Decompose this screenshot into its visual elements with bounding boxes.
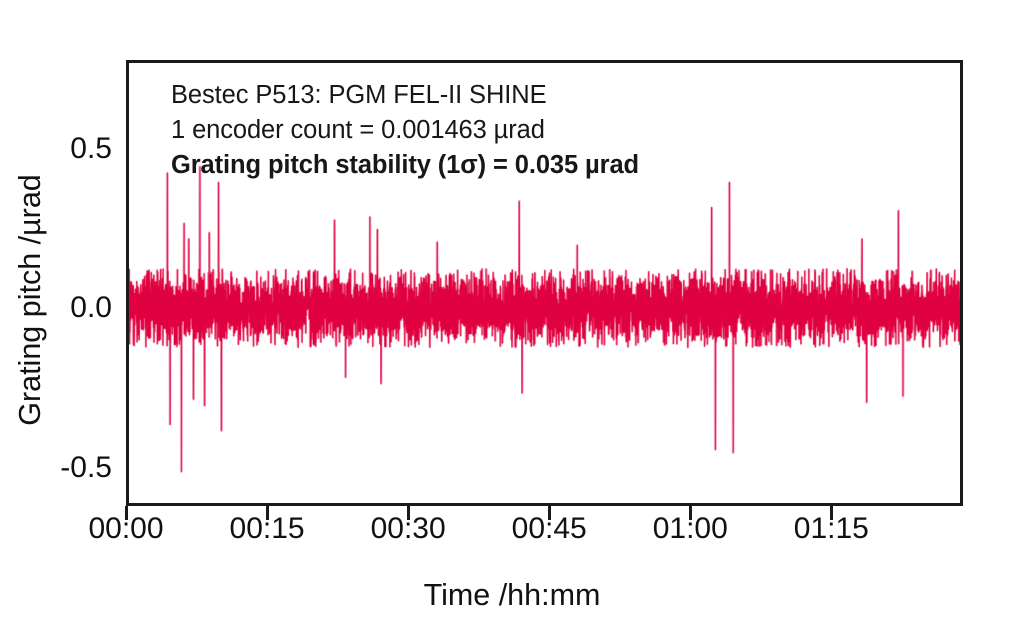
y-tick-label: 0.5 (70, 134, 112, 164)
y-tick-label: -0.5 (60, 453, 112, 483)
x-tick-label: 00:45 (469, 512, 629, 546)
annotation-line-2: 1 encoder count = 0.001463 µrad (171, 113, 791, 148)
x-axis-title: Time /hh:mm (0, 578, 1024, 612)
x-tick-label: 00:15 (187, 512, 347, 546)
annotation-block: Bestec P513: PGM FEL-II SHINE1 encoder c… (171, 78, 791, 183)
annotation-line-1: Bestec P513: PGM FEL-II SHINE (171, 78, 791, 113)
x-tick-label: 00:00 (46, 512, 206, 546)
x-tick-label: 01:00 (610, 512, 770, 546)
chart-figure: Grating pitch /µrad 0.50.0-0.5 Bestec P5… (0, 0, 1024, 621)
y-tick-label: 0.0 (70, 293, 112, 323)
annotation-line-3: Grating pitch stability (1σ) = 0.035 µra… (171, 148, 791, 183)
x-tick-label: 00:30 (328, 512, 488, 546)
x-tick-label: 01:15 (751, 512, 911, 546)
